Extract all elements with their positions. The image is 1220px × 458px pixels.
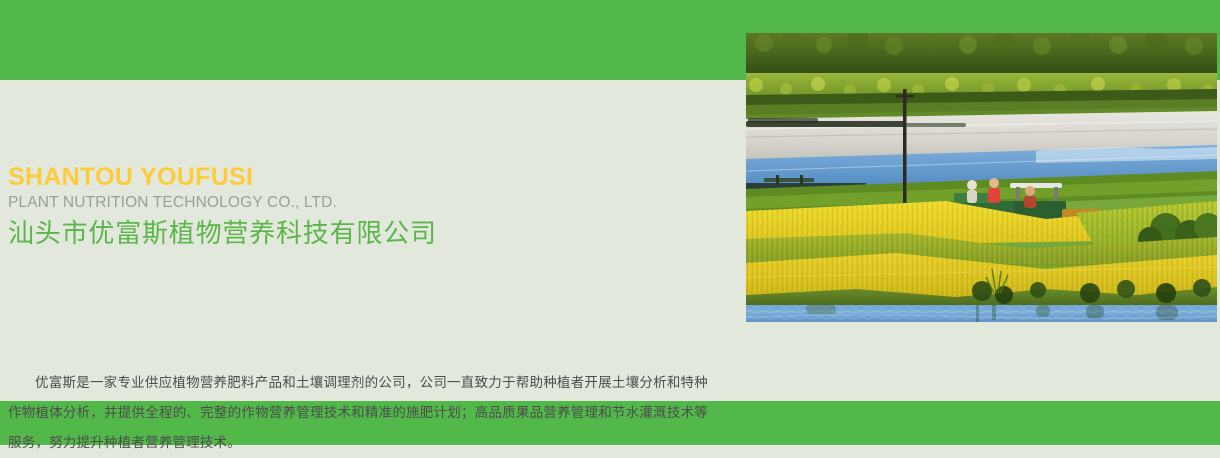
company-name-english: SHANTOU YOUFUSI <box>8 164 708 191</box>
company-profile-page: SHANTOU YOUFUSI PLANT NUTRITION TECHNOLO… <box>0 0 1220 445</box>
company-name-chinese: 汕头市优富斯植物营养科技有限公司 <box>8 217 708 251</box>
brand-block: SHANTOU YOUFUSI PLANT NUTRITION TECHNOLO… <box>8 164 708 251</box>
company-subtitle-english: PLANT NUTRITION TECHNOLOGY CO., LTD. <box>8 193 708 212</box>
left-content-column: SHANTOU YOUFUSI PLANT NUTRITION TECHNOLO… <box>0 80 740 401</box>
company-about-paragraph: 优富斯是一家专业供应植物营养肥料产品和土壤调理剂的公司，公司一直致力于帮助种植者… <box>8 368 708 458</box>
farm-landscape-illustration <box>746 33 1217 322</box>
farm-landscape-photo <box>746 33 1217 322</box>
